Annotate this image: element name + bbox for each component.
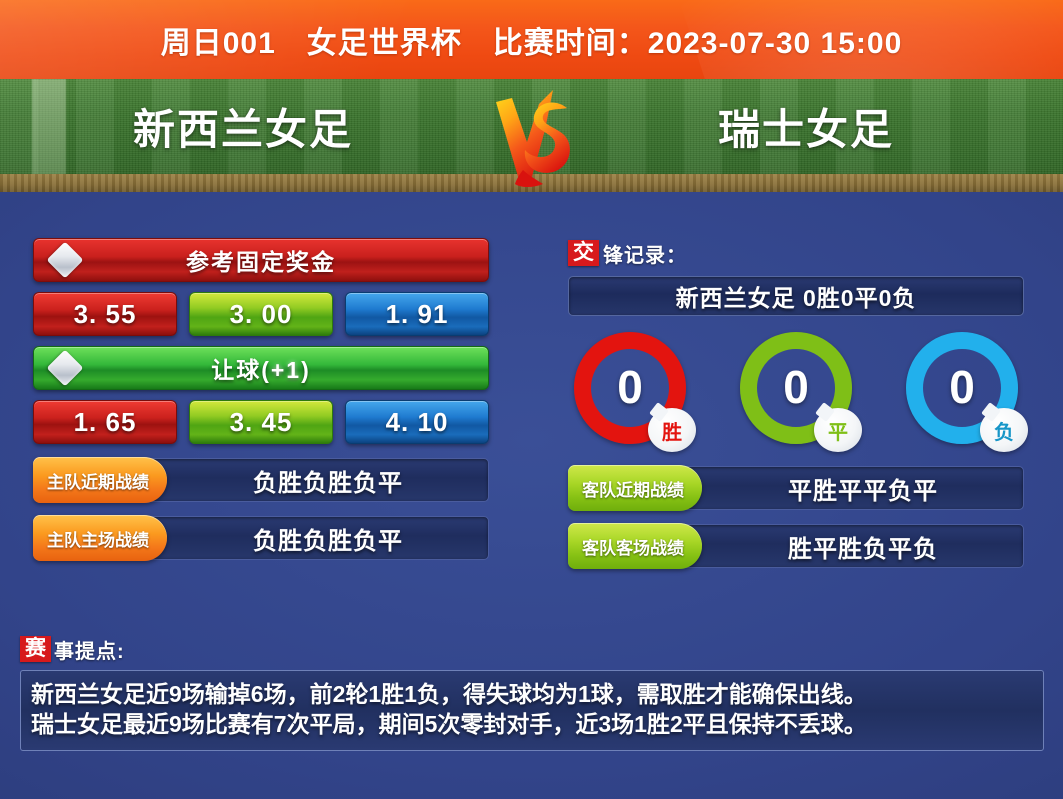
h2h-win-label: 胜 [648, 408, 696, 452]
handicap-value: +1 [271, 357, 301, 383]
h2h-draw-label: 平 [814, 408, 862, 452]
tips-section: 赛 事提点: 新西兰女足近9场输掉6场，前2轮1胜1负，得失球均为1球，需取胜才… [20, 634, 1044, 751]
tips-line: 新西兰女足近9场输掉6场，前2轮1胜1负，得失球均为1球，需取胜才能确保出线。 [31, 679, 1033, 709]
handicap-prefix: 让球( [211, 357, 271, 383]
h2h-ring-win: 0 胜 [574, 332, 686, 444]
tips-heading-box: 赛 [20, 636, 51, 662]
fixed-odds-row: 3. 55 3. 00 1. 91 [33, 292, 489, 336]
home-home-form-row: 主队主场战绩 负胜负胜负平 [33, 516, 489, 560]
away-recent-form-value: 平胜平平负平 [702, 466, 1024, 510]
diamond-icon [47, 242, 84, 279]
diamond-icon [47, 350, 84, 387]
handicap-odds-row: 1. 65 3. 45 4. 10 [33, 400, 489, 444]
handicap-odds-win[interactable]: 1. 65 [33, 400, 177, 444]
h2h-ring-draw: 0 平 [740, 332, 852, 444]
handicap-title: 让球(+1) [211, 351, 311, 385]
tips-heading-text: 事提点: [54, 635, 125, 664]
handicap-odds-lose[interactable]: 4. 10 [345, 400, 489, 444]
h2h-rings: 0 胜 0 平 0 负 [568, 332, 1024, 444]
h2h-ring-loss: 0 负 [906, 332, 1018, 444]
page-title: 周日001 女足世界杯 比赛时间：2023-07-30 15:00 [161, 18, 903, 62]
h2h-summary: 新西兰女足 0胜0平0负 [568, 276, 1024, 316]
home-team-name: 新西兰女足 [133, 96, 353, 157]
h2h-heading-box: 交 [568, 240, 599, 266]
handicap-title-bar: 让球(+1) [33, 346, 489, 390]
away-team-name: 瑞士女足 [718, 96, 894, 157]
away-recent-form-row: 客队近期战绩 平胜平平负平 [568, 466, 1024, 510]
tips-heading: 赛 事提点: [20, 634, 1044, 664]
handicap-odds-draw[interactable]: 3. 45 [189, 400, 333, 444]
handicap-suffix: ) [301, 357, 311, 383]
away-recent-form-tag: 客队近期战绩 [568, 465, 702, 511]
h2h-panel: 交 锋记录： 新西兰女足 0胜0平0负 0 胜 0 平 0 负 [568, 238, 1024, 568]
grass-stripe [32, 79, 66, 175]
h2h-loss-count: 0 [906, 360, 1018, 414]
h2h-loss-label: 负 [980, 408, 1028, 452]
fixed-odds-draw[interactable]: 3. 00 [189, 292, 333, 336]
fixed-odds-title-bar: 参考固定奖金 [33, 238, 489, 282]
home-recent-form-row: 主队近期战绩 负胜负胜负平 [33, 458, 489, 502]
home-home-form-value: 负胜负胜负平 [167, 516, 489, 560]
odds-panel: 参考固定奖金 3. 55 3. 00 1. 91 让球(+1) 1. 65 3.… [33, 238, 489, 560]
home-recent-form-value: 负胜负胜负平 [167, 458, 489, 502]
h2h-draw-count: 0 [740, 360, 852, 414]
h2h-win-count: 0 [574, 360, 686, 414]
fixed-odds-title: 参考固定奖金 [186, 243, 336, 277]
tips-body: 新西兰女足近9场输掉6场，前2轮1胜1负，得失球均为1球，需取胜才能确保出线。 … [20, 670, 1044, 751]
home-home-form-tag: 主队主场战绩 [33, 515, 167, 561]
away-away-form-value: 胜平胜负平负 [702, 524, 1024, 568]
header-bar: 周日001 女足世界杯 比赛时间：2023-07-30 15:00 [0, 0, 1063, 79]
fixed-odds-lose[interactable]: 1. 91 [345, 292, 489, 336]
match-preview-page: 周日001 女足世界杯 比赛时间：2023-07-30 15:00 新西兰女足 … [0, 0, 1063, 799]
tips-line: 瑞士女足最近9场比赛有7次平局，期间5次零封对手，近3场1胜2平且保持不丢球。 [31, 709, 1033, 739]
away-away-form-row: 客队客场战绩 胜平胜负平负 [568, 524, 1024, 568]
versus-icon [479, 84, 585, 194]
h2h-heading: 交 锋记录： [568, 238, 1024, 268]
h2h-heading-text: 锋记录： [603, 239, 687, 268]
home-recent-form-tag: 主队近期战绩 [33, 457, 167, 503]
fixed-odds-win[interactable]: 3. 55 [33, 292, 177, 336]
away-away-form-tag: 客队客场战绩 [568, 523, 702, 569]
